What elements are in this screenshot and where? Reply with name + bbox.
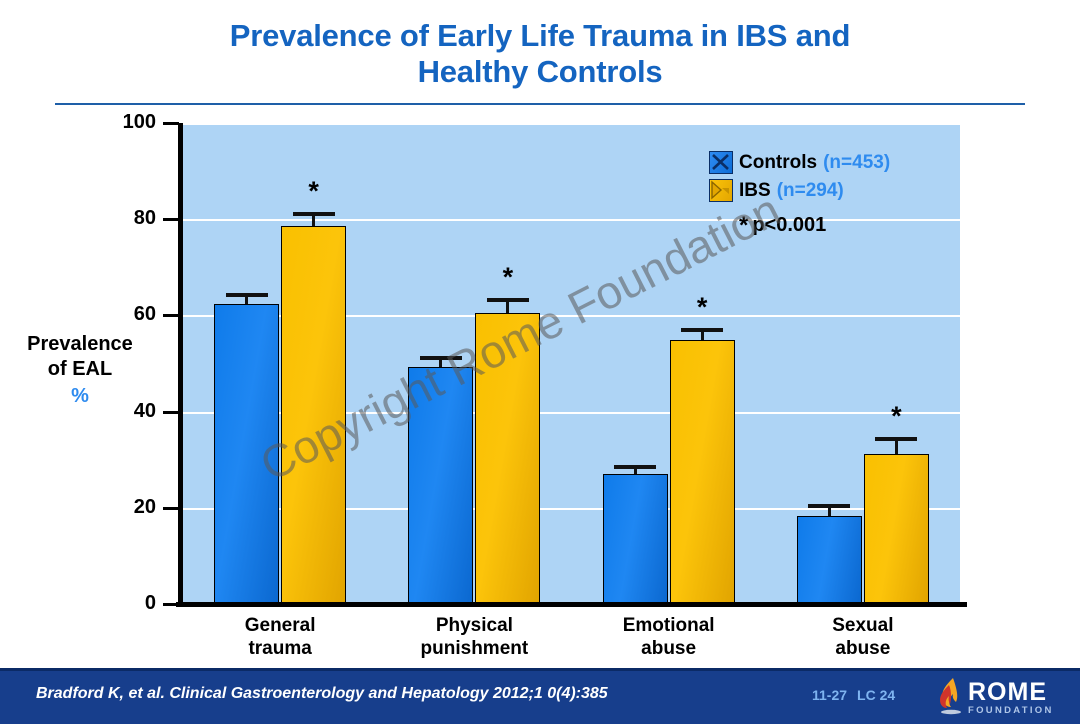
significance-note: *p<0.001: [739, 212, 959, 240]
significance-star-2: *: [682, 294, 722, 321]
logo-name: ROME: [968, 678, 1047, 706]
x-axis-label-0: Generaltrauma: [171, 614, 389, 660]
bar-ibs-1: [475, 313, 540, 604]
error-bar-stem-ibs-1: [506, 300, 509, 313]
y-tick-40: [163, 411, 179, 414]
bar-ibs-2: [670, 340, 735, 604]
significance-value: p<0.001: [752, 214, 826, 236]
legend-swatch-ibs-icon: [709, 179, 733, 202]
legend-item-controls[interactable]: Controls (n=453): [709, 150, 959, 175]
y-tick-label-0: 0: [108, 592, 156, 615]
legend-count-controls: (n=453): [823, 152, 890, 174]
significance-star: *: [739, 212, 748, 239]
bar-ibs-3: [864, 454, 929, 604]
logo-subtitle: FOUNDATION: [968, 705, 1054, 717]
bar-controls-0: [214, 304, 279, 604]
legend-label-ibs: IBS: [739, 180, 771, 202]
y-tick-0: [163, 603, 179, 606]
bar-ibs-0: [281, 226, 346, 604]
significance-star-0: *: [294, 178, 334, 205]
gridline-100: [183, 123, 960, 125]
chart-legend: Controls (n=453) IBS (n=294) *p<0.001: [709, 150, 959, 240]
x-axis-label-3-line-0: Sexual: [754, 614, 972, 637]
footer-code-date: 11-27: [812, 687, 847, 703]
y-axis-title-line1: Prevalence: [27, 333, 133, 355]
rome-foundation-logo: ROME FOUNDATION: [938, 675, 1072, 721]
title-line-1: Prevalence of Early Life Trauma in IBS a…: [0, 18, 1080, 54]
error-bar-cap-controls-2: [614, 465, 656, 469]
y-tick-80: [163, 218, 179, 221]
x-axis-label-0-line-0: General: [171, 614, 389, 637]
error-bar-cap-ibs-0: [293, 212, 335, 216]
x-axis-label-2-line-0: Emotional: [560, 614, 778, 637]
y-tick-label-100: 100: [108, 111, 156, 134]
y-tick-20: [163, 507, 179, 510]
x-axis-label-3-line-1: abuse: [754, 637, 972, 660]
error-bar-cap-controls-0: [226, 293, 268, 297]
y-tick-60: [163, 314, 179, 317]
x-axis-label-0-line-1: trauma: [171, 637, 389, 660]
y-tick-label-80: 80: [108, 207, 156, 230]
x-axis-label-1: Physicalpunishment: [365, 614, 583, 660]
error-bar-cap-ibs-3: [875, 437, 917, 441]
y-axis-title-line2: of EAL: [48, 358, 112, 380]
significance-star-3: *: [876, 403, 916, 430]
page-title: Prevalence of Early Life Trauma in IBS a…: [0, 18, 1080, 90]
x-axis-label-1-line-0: Physical: [365, 614, 583, 637]
y-axis-title: Prevalence of EAL %: [6, 332, 154, 409]
footer-slide-codes: 11-27LC 24: [812, 687, 905, 703]
bar-controls-2: [603, 474, 668, 604]
x-axis-label-2-line-1: abuse: [560, 637, 778, 660]
bar-controls-3: [797, 516, 862, 604]
x-axis-label-3: Sexualabuse: [754, 614, 972, 660]
legend-swatch-controls-icon: [709, 151, 733, 174]
error-bar-cap-ibs-2: [681, 328, 723, 332]
flame-icon: [938, 676, 964, 721]
legend-label-controls: Controls: [739, 152, 817, 174]
y-tick-100: [163, 122, 179, 125]
error-bar-stem-ibs-3: [895, 439, 898, 454]
error-bar-cap-controls-3: [808, 504, 850, 508]
y-tick-label-20: 20: [108, 496, 156, 519]
x-axis-label-2: Emotionalabuse: [560, 614, 778, 660]
footer-bar: Bradford K, et al. Clinical Gastroentero…: [0, 668, 1080, 724]
y-axis-unit: %: [6, 384, 154, 409]
x-axis-label-1-line-1: punishment: [365, 637, 583, 660]
legend-item-ibs[interactable]: IBS (n=294): [709, 178, 959, 203]
error-bar-cap-ibs-1: [487, 298, 529, 302]
y-axis-line: [178, 123, 183, 607]
error-bar-cap-controls-1: [420, 356, 462, 360]
y-tick-label-60: 60: [108, 303, 156, 326]
footer-code-slide: LC 24: [857, 687, 895, 703]
legend-count-ibs: (n=294): [777, 180, 844, 202]
x-axis-line: [176, 602, 967, 607]
title-divider: [55, 103, 1025, 105]
title-line-2: Healthy Controls: [0, 54, 1080, 90]
significance-star-1: *: [488, 264, 528, 291]
logo-text: ROME FOUNDATION: [968, 680, 1054, 717]
footer-citation: Bradford K, et al. Clinical Gastroentero…: [36, 685, 608, 703]
bar-controls-1: [408, 367, 473, 604]
